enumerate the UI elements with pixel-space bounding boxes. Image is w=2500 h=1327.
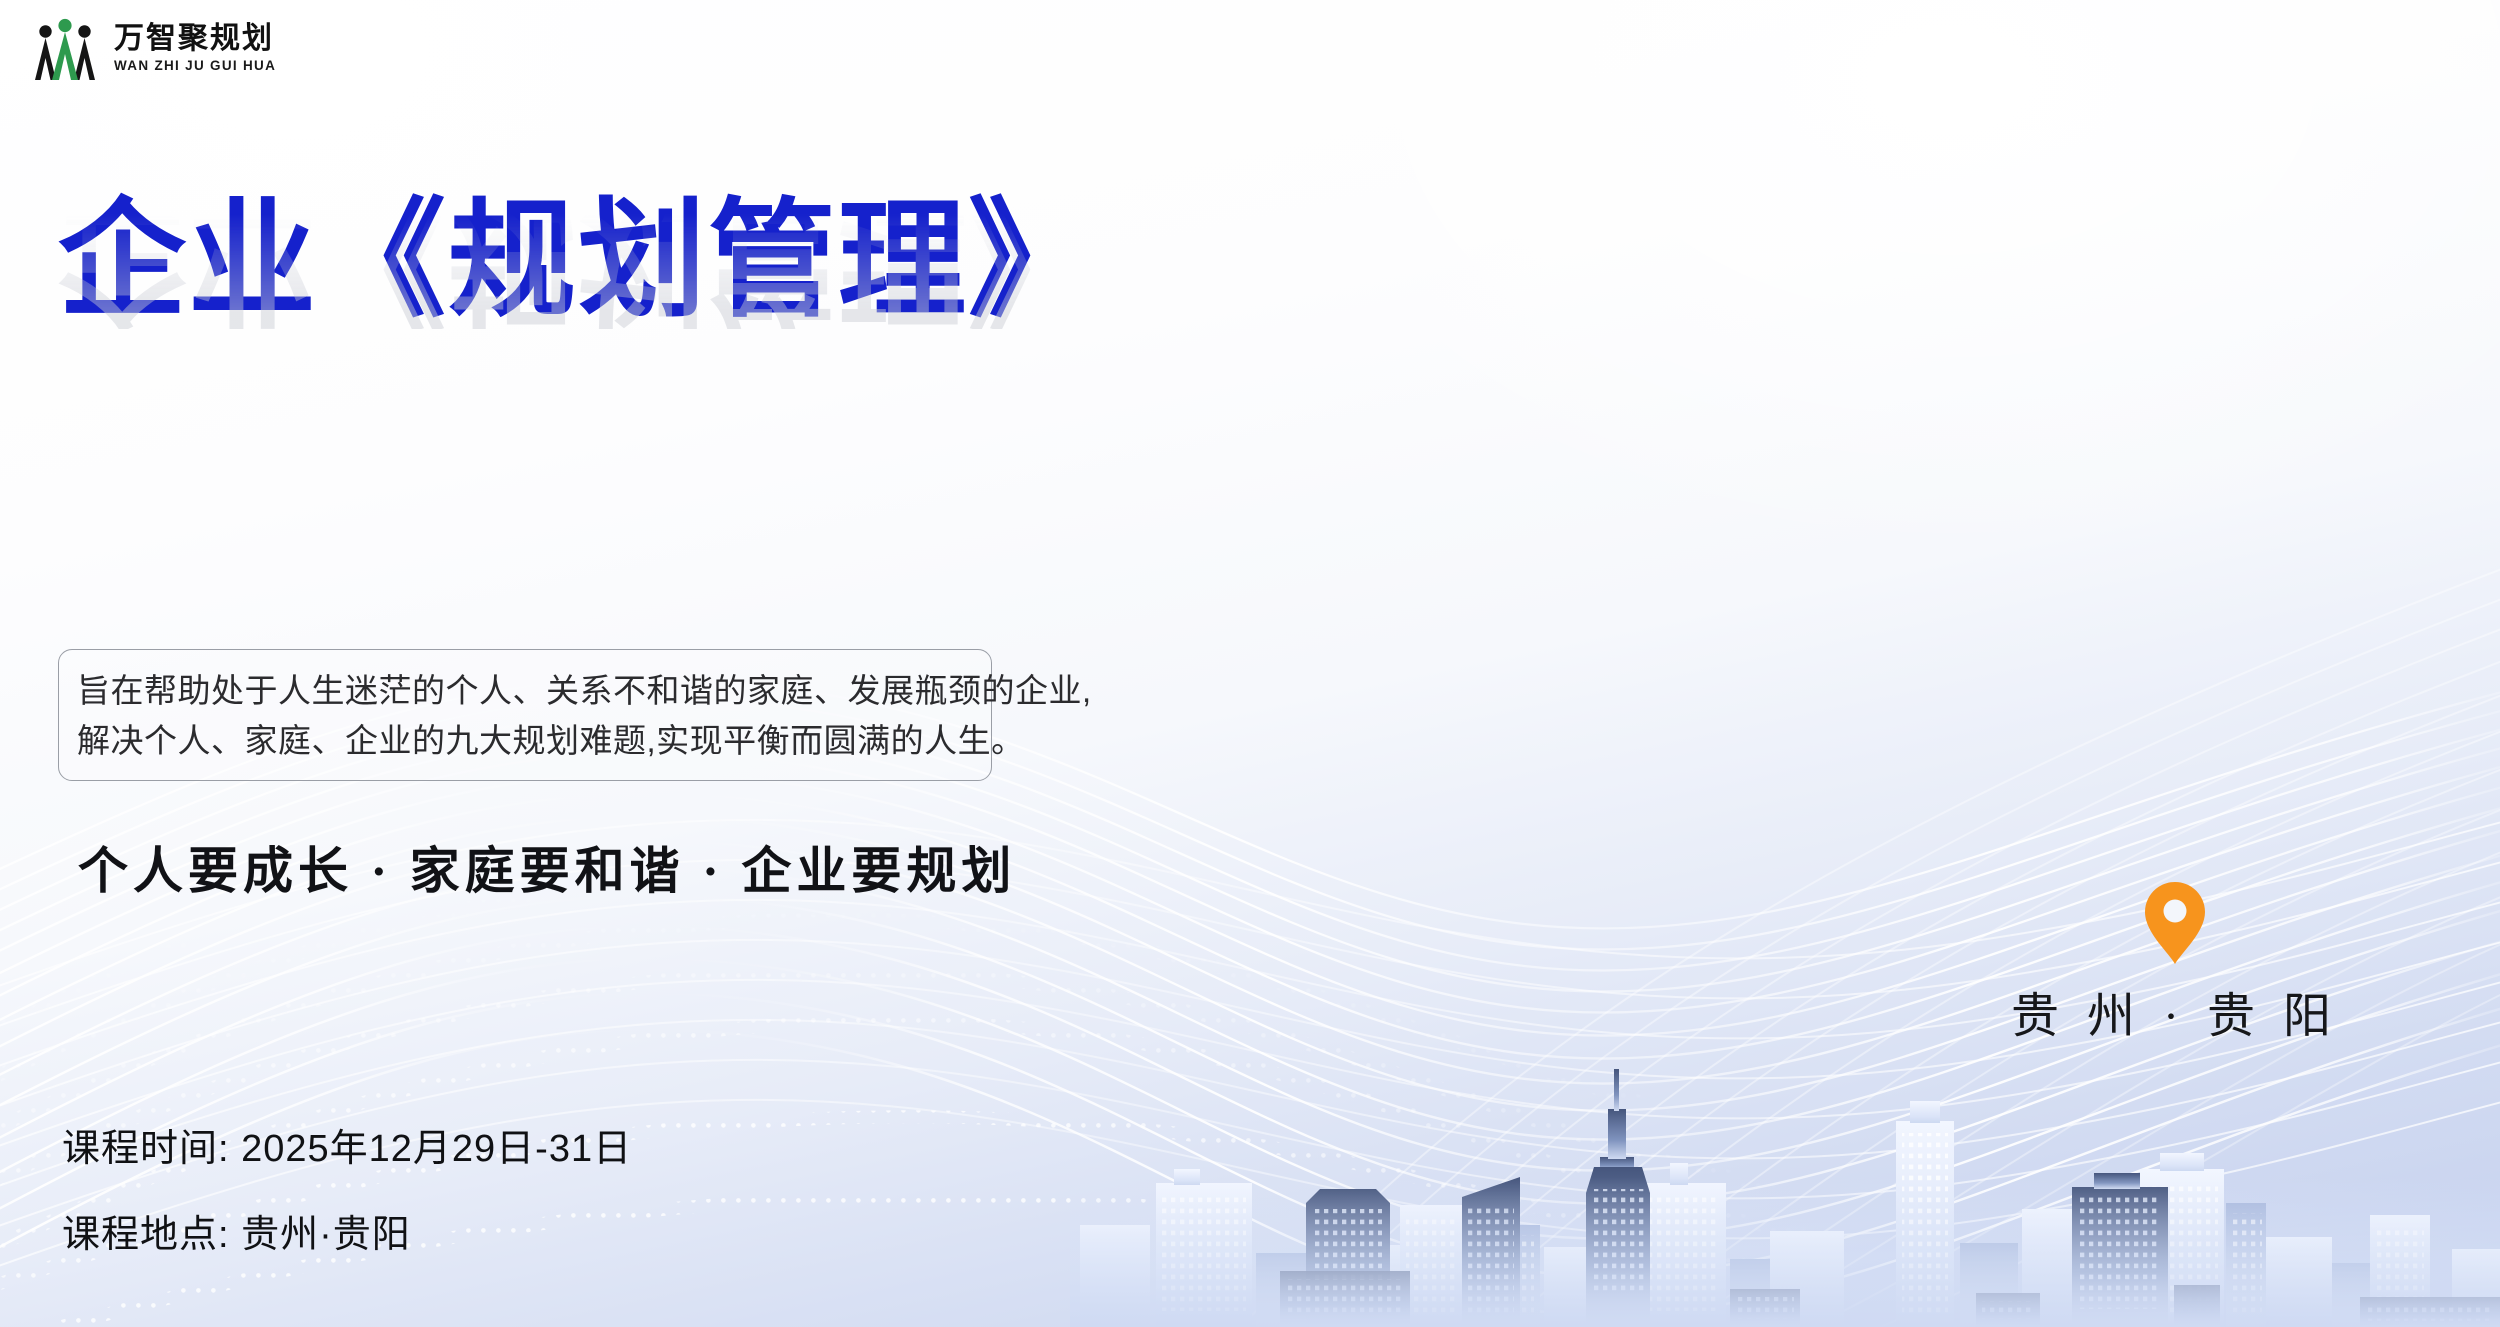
course-location-row: 课程地点: 贵州·贵阳 (62, 1203, 632, 1258)
hero-title-block: 企业《规划管理》 企业《规划管理》 (58, 196, 1058, 459)
slogan-text: 个人要成长 · 家庭要和谐 · 企业要规划 (78, 831, 1016, 903)
description-line-1: 旨在帮助处于人生迷茫的个人、关系不和谐的家庭、发展瓶颈的企业, (77, 666, 973, 716)
brand-name-pinyin: WAN ZHI JU GUI HUA (114, 58, 276, 74)
brand-name-cn: 万智聚规划 (114, 22, 276, 56)
description-box: 旨在帮助处于人生迷茫的个人、关系不和谐的家庭、发展瓶颈的企业, 解决个人、家庭、… (58, 649, 992, 781)
course-meta-block: 课程时间: 2025年12月29日-31日 课程地点: 贵州·贵阳 (62, 1117, 632, 1258)
map-pin-icon (2142, 880, 2208, 966)
location-label: 贵 州 · 贵 阳 (2011, 976, 2339, 1046)
description-line-2: 解决个人、家庭、企业的九大规划难题,实现平衡而圆满的人生。 (77, 716, 973, 766)
course-time-row: 课程时间: 2025年12月29日-31日 (62, 1117, 632, 1172)
poster-root: 万智聚规划 WAN ZHI JU GUI HUA 企业《规划管理》 企业《规划管… (0, 0, 2500, 1327)
city-skyline-illustration (1070, 997, 2500, 1327)
three-people-logo-icon (30, 14, 100, 82)
brand-logo: 万智聚规划 WAN ZHI JU GUI HUA (30, 14, 276, 82)
location-marker: 贵 州 · 贵 阳 (2010, 880, 2340, 1046)
page-title-reflection: 企业《规划管理》 (58, 198, 1058, 329)
